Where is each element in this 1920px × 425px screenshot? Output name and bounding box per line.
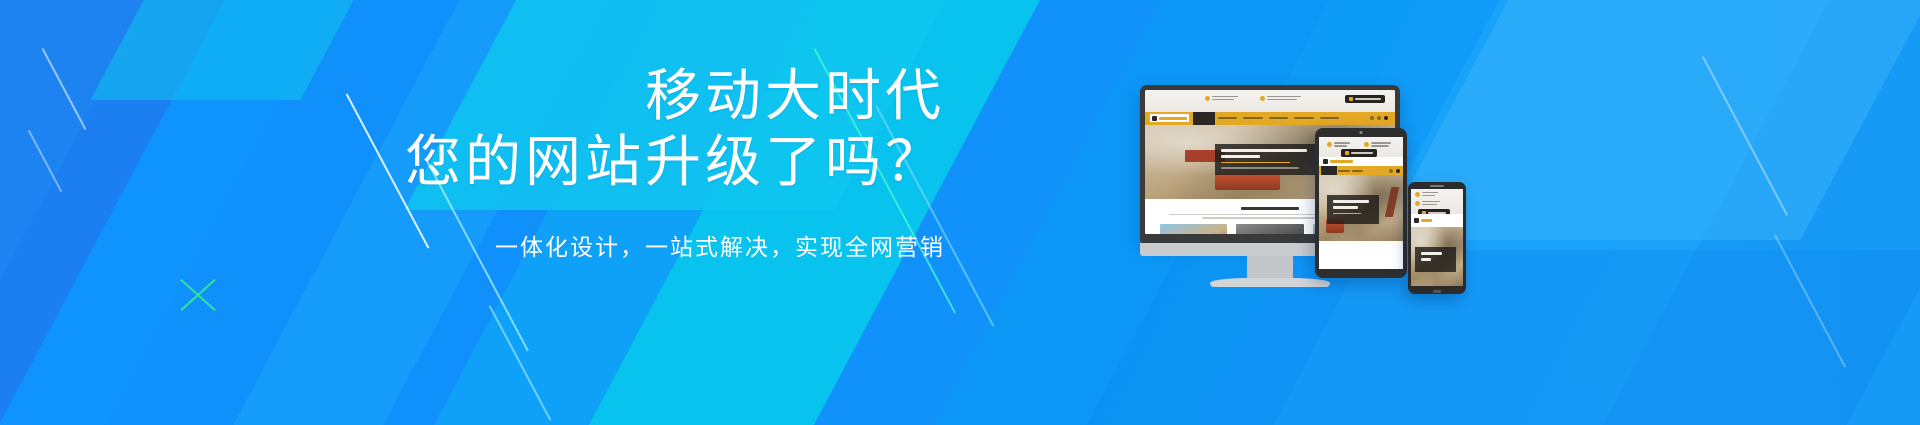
cart-icon[interactable] [1377,116,1381,120]
nav-item[interactable] [1269,117,1289,119]
monitor-stand-base [1210,278,1330,287]
nav-item-home[interactable] [1321,166,1337,175]
contact-text [1422,192,1438,197]
hero-caption-box [1327,195,1379,224]
website-mockup-tablet [1319,137,1403,269]
nav-item[interactable] [1218,117,1238,119]
quote-icon [1345,151,1349,155]
nav-item[interactable] [1294,117,1314,119]
phone-screen [1411,189,1463,286]
nav-item[interactable] [1352,170,1364,172]
contact-text [1422,201,1440,206]
quote-label [1355,98,1381,100]
site-logo-bar [1319,157,1403,166]
request-quote-button[interactable] [1345,95,1385,103]
tablet-screen [1319,137,1403,269]
search-icon[interactable] [1370,116,1374,120]
phone-icon [1415,192,1420,197]
clock-icon [1364,142,1369,147]
hero-bulldozer [1215,174,1280,190]
contact-text [1334,142,1350,147]
site-topbar [1319,137,1403,157]
hero-caption-line-1 [1221,149,1307,152]
phone-device [1408,182,1466,294]
nav-item[interactable] [1320,117,1340,119]
hero-caption-line-1 [1421,252,1442,255]
camera-icon [1360,131,1363,134]
menu-icon[interactable] [1384,116,1388,120]
nav-item-home[interactable] [1193,112,1215,125]
cross-mark-icon [175,272,221,318]
hero-caption-line-2 [1333,206,1358,209]
hero-caption-box [1215,144,1325,175]
search-icon[interactable] [1389,169,1393,173]
contact-info-1 [1415,192,1438,197]
nav-item[interactable] [1243,117,1263,119]
contact-text [1267,96,1301,101]
phone-icon [1205,96,1210,101]
contact-text [1212,96,1238,101]
site-topbar [1411,189,1463,214]
hero-caption-box [1415,247,1456,272]
contact-info-2 [1415,201,1440,206]
hero-banner: 移动大时代 您的网站升级了吗？ 一体化设计，一站式解决，实现全网营销 [0,0,1920,425]
clock-icon [1260,96,1265,101]
headline-line-2: 您的网站升级了吗？ [0,130,945,194]
hero-caption-sub [1221,167,1299,169]
monitor-stand-neck [1247,256,1293,278]
device-mockup-cluster [1140,60,1600,380]
contact-info-left [1205,96,1238,101]
hero-caption-line-1 [1333,200,1368,203]
site-hero-image [1411,227,1463,286]
home-button-icon[interactable] [1433,290,1441,293]
site-logo[interactable] [1412,216,1434,224]
hero-caption-line-2 [1221,155,1260,158]
clock-icon [1415,201,1420,206]
banner-subline: 一体化设计，一站式解决，实现全网营销 [0,232,945,262]
section-title [1241,207,1298,210]
site-logo-bar [1411,214,1463,227]
site-navbar [1319,166,1403,175]
site-logo[interactable] [1150,114,1189,123]
site-logo[interactable] [1321,158,1356,165]
contact-info-left [1327,142,1350,147]
headline-line-1: 移动大时代 [0,64,945,128]
section-card[interactable] [1236,224,1303,234]
banner-copy: 移动大时代 您的网站升级了吗？ 一体化设计，一站式解决，实现全网营销 [0,64,945,262]
hero-caption-line-2 [1421,258,1431,261]
site-navbar [1145,112,1395,125]
contact-info-right [1260,96,1301,101]
site-topbar [1145,90,1395,112]
contact-text [1371,142,1391,147]
section-card[interactable] [1160,224,1227,234]
nav-item[interactable] [1338,170,1350,172]
quote-icon [1349,97,1353,101]
contact-info-right [1364,142,1391,147]
site-hero-image [1319,175,1403,241]
tablet-device [1315,128,1407,278]
menu-icon[interactable] [1396,169,1400,173]
website-mockup-phone [1411,189,1463,286]
nav-icon-group[interactable] [1370,116,1388,120]
nav-icon-group[interactable] [1389,169,1400,173]
hero-caption-divider [1333,213,1361,214]
hero-caption-divider [1221,162,1290,163]
speaker-icon [1430,185,1444,187]
phone-icon [1327,142,1332,147]
quote-label [1351,152,1373,154]
